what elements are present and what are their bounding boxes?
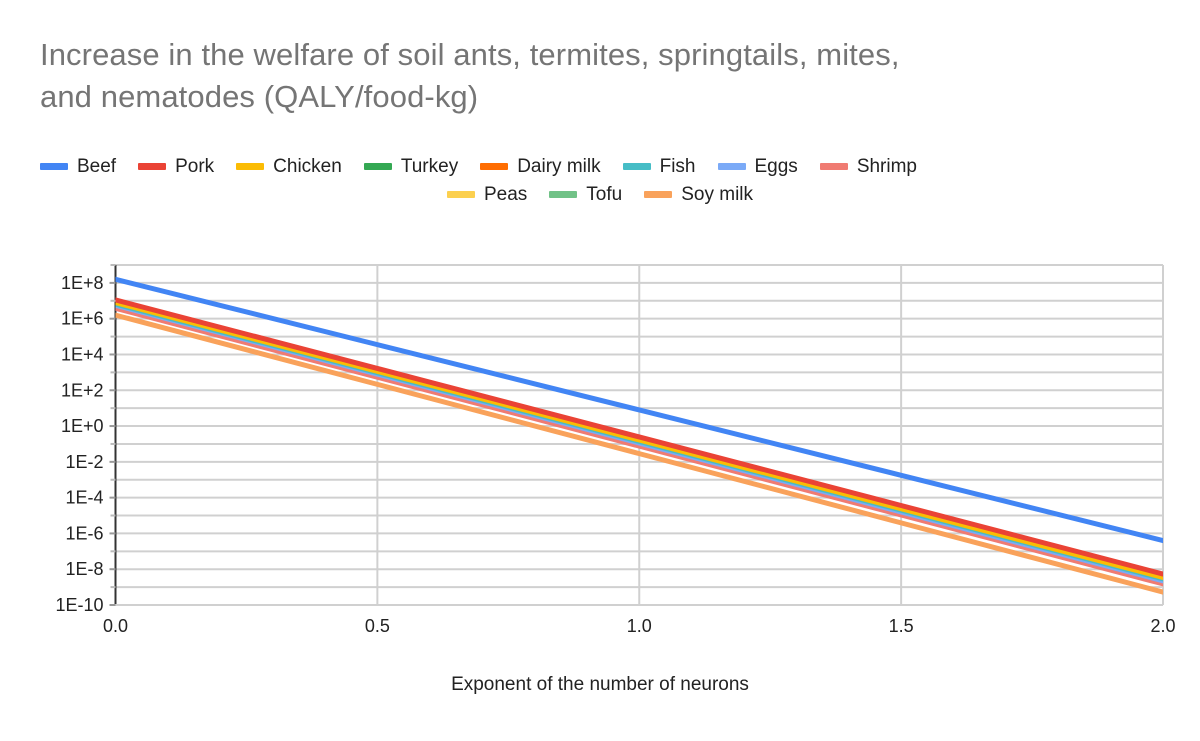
legend-swatch-icon xyxy=(480,163,508,170)
legend-item-label: Eggs xyxy=(755,157,798,176)
y-axis-ticks: 1E+81E+61E+41E+21E+01E-21E-41E-61E-81E-1… xyxy=(55,265,115,615)
legend-item-tofu[interactable]: Tofu xyxy=(549,185,622,204)
legend-swatch-icon xyxy=(364,163,392,170)
y-tick-label: 1E-2 xyxy=(65,452,103,472)
legend-item-soy-milk[interactable]: Soy milk xyxy=(644,185,753,204)
legend-item-chicken[interactable]: Chicken xyxy=(236,157,342,176)
legend-swatch-icon xyxy=(138,163,166,170)
legend-item-label: Turkey xyxy=(401,157,458,176)
y-tick-label: 1E+2 xyxy=(61,380,104,400)
legend-swatch-icon xyxy=(447,191,475,198)
x-tick-label: 0.0 xyxy=(103,616,128,636)
legend-swatch-icon xyxy=(644,191,672,198)
y-tick-label: 1E+0 xyxy=(61,416,104,436)
legend-item-label: Peas xyxy=(484,185,527,204)
y-tick-label: 1E+8 xyxy=(61,273,104,293)
x-tick-label: 2.0 xyxy=(1150,616,1175,636)
y-tick-label: 1E-8 xyxy=(65,559,103,579)
legend-item-label: Dairy milk xyxy=(517,157,600,176)
legend-item-pork[interactable]: Pork xyxy=(138,157,214,176)
legend-swatch-icon xyxy=(820,163,848,170)
legend-item-label: Shrimp xyxy=(857,157,917,176)
y-tick-label: 1E+6 xyxy=(61,309,104,329)
legend-row-2: PeasTofuSoy milk xyxy=(40,180,1160,208)
chart-title: Increase in the welfare of soil ants, te… xyxy=(40,34,1150,118)
y-tick-label: 1E+4 xyxy=(61,344,104,364)
legend-item-eggs[interactable]: Eggs xyxy=(718,157,798,176)
plot-area: 1E+81E+61E+41E+21E+01E-21E-41E-61E-81E-1… xyxy=(0,238,1200,658)
legend-item-turkey[interactable]: Turkey xyxy=(364,157,458,176)
chart-plot-svg: 1E+81E+61E+41E+21E+01E-21E-41E-61E-81E-1… xyxy=(0,238,1200,658)
x-tick-label: 1.0 xyxy=(627,616,652,636)
legend-item-label: Tofu xyxy=(586,185,622,204)
x-tick-label: 1.5 xyxy=(889,616,914,636)
x-axis-title: Exponent of the number of neurons xyxy=(0,674,1200,696)
legend-swatch-icon xyxy=(236,163,264,170)
y-tick-label: 1E-6 xyxy=(65,523,103,543)
legend-item-label: Fish xyxy=(660,157,696,176)
legend-swatch-icon xyxy=(718,163,746,170)
legend-swatch-icon xyxy=(623,163,651,170)
legend-item-label: Soy milk xyxy=(681,185,753,204)
legend-swatch-icon xyxy=(40,163,68,170)
y-tick-label: 1E-10 xyxy=(55,595,103,615)
legend-item-shrimp[interactable]: Shrimp xyxy=(820,157,917,176)
legend-swatch-icon xyxy=(549,191,577,198)
y-tick-label: 1E-4 xyxy=(65,488,103,508)
legend-item-peas[interactable]: Peas xyxy=(447,185,527,204)
chart-legend: BeefPorkChickenTurkeyDairy milkFishEggsS… xyxy=(40,152,1160,208)
legend-item-label: Chicken xyxy=(273,157,342,176)
legend-item-label: Beef xyxy=(77,157,116,176)
legend-item-label: Pork xyxy=(175,157,214,176)
x-axis-ticks: 0.00.51.01.52.0 xyxy=(103,616,1176,636)
legend-item-beef[interactable]: Beef xyxy=(40,157,116,176)
legend-item-dairy-milk[interactable]: Dairy milk xyxy=(480,157,600,176)
legend-item-fish[interactable]: Fish xyxy=(623,157,696,176)
chart-container: Increase in the welfare of soil ants, te… xyxy=(0,0,1200,741)
x-tick-label: 0.5 xyxy=(365,616,390,636)
legend-row-1: BeefPorkChickenTurkeyDairy milkFishEggsS… xyxy=(40,152,1160,180)
